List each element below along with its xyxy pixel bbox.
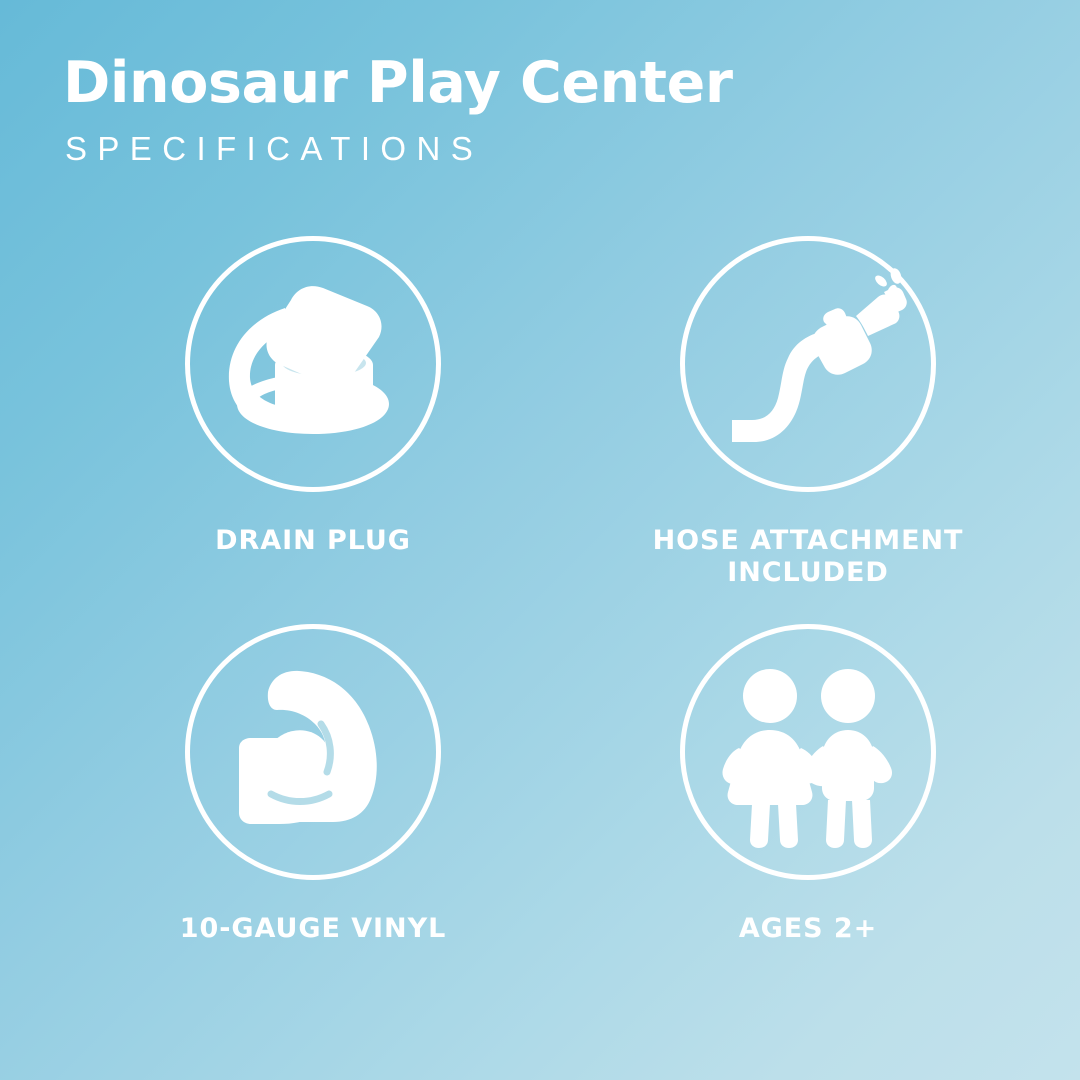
spec-item-drain-plug: DRAIN PLUG	[0, 236, 540, 624]
hose-nozzle-icon	[708, 264, 908, 464]
icon-ring	[680, 624, 936, 880]
spec-item-hose-attachment: HOSE ATTACHMENT INCLUDED	[540, 236, 1080, 624]
page-subtitle: SPECIFICATIONS	[65, 132, 963, 165]
page-title: Dinosaur Play Center	[63, 52, 963, 116]
spec-label: DRAIN PLUG	[215, 525, 411, 557]
flexed-bicep-icon	[213, 652, 413, 852]
spec-item-age-rating: AGES 2+	[540, 624, 1080, 1012]
drain-plug-icon	[213, 264, 413, 464]
spec-grid: DRAIN PLUG	[0, 236, 1080, 1012]
spec-item-vinyl-gauge: 10-GAUGE VINYL	[0, 624, 540, 1012]
icon-ring	[185, 624, 441, 880]
icon-ring	[680, 236, 936, 492]
specifications-infographic: Dinosaur Play Center SPECIFICATIONS	[0, 0, 1080, 1080]
two-children-icon	[708, 652, 908, 852]
spec-label: AGES 2+	[739, 913, 877, 945]
icon-ring	[185, 236, 441, 492]
spec-label: HOSE ATTACHMENT INCLUDED	[608, 525, 1008, 590]
spec-label: 10-GAUGE VINYL	[180, 913, 446, 945]
header: Dinosaur Play Center SPECIFICATIONS	[63, 52, 963, 165]
